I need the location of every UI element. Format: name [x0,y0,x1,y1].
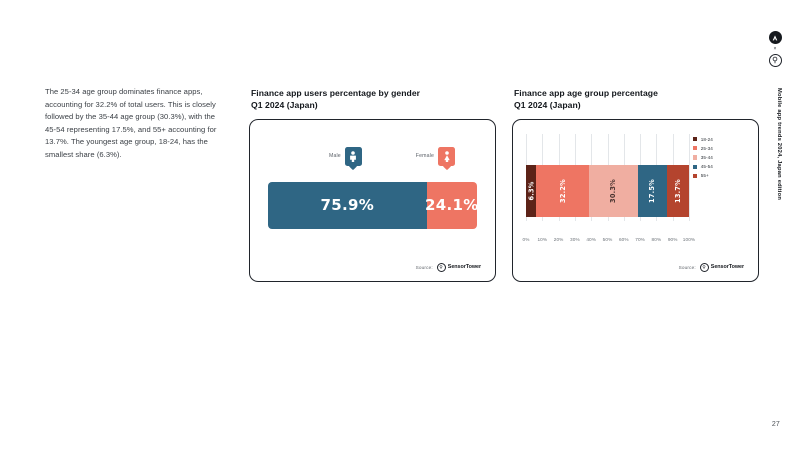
x-axis-tick: 80% [652,237,662,242]
appsflyer-logo-icon [769,31,782,44]
sensortower-mark-icon [437,263,446,272]
age-stacked-bar: 6.3% 32.2% 30.3% 17.5% 13.7% [526,165,689,217]
age-legend: 18-2425-3435-4445-5455+ [693,137,745,179]
age-title-line2: Q1 2024 (Japan) [514,99,759,111]
legend-label: 35-44 [701,155,713,160]
x-axis-tick: 30% [570,237,580,242]
sensortower-logo: SensorTower [700,263,744,272]
legend-item[interactable]: 25-34 [693,146,745,151]
legend-item[interactable]: 45-54 [693,164,745,169]
gender-title-line1: Finance app users percentage by gender [251,87,496,99]
age-plot-area: 6.3% 32.2% 30.3% 17.5% 13.7% 0%10%20%30%… [526,134,745,247]
x-axis-tick: 40% [586,237,596,242]
age-title-line1: Finance app age group percentage [514,87,759,99]
gender-title-line2: Q1 2024 (Japan) [251,99,496,111]
gender-icon-row: Male Female [268,147,477,173]
x-axis-tick: 100% [683,237,695,242]
x-axis-tick: 50% [603,237,613,242]
male-person-icon [345,147,362,166]
legend-item[interactable]: 55+ [693,173,745,178]
x-axis-tick: 70% [635,237,645,242]
brand-lockup: × [767,31,783,67]
sensortower-logo: SensorTower [437,263,481,272]
source-label: Source: [679,265,696,270]
legend-swatch-icon [693,137,697,141]
age-source: Source: SensorTower [679,263,744,272]
gender-chart-card: Male Female [249,119,496,282]
age-segment-25-34: 32.2% [536,165,588,217]
gender-source: Source: SensorTower [416,263,481,272]
age-segment-45-54: 17.5% [638,165,667,217]
logo-separator: × [767,47,783,52]
source-label: Source: [416,265,433,270]
x-axis-tick: 0% [523,237,530,242]
age-chart-card: 6.3% 32.2% 30.3% 17.5% 13.7% 0%10%20%30%… [512,119,759,282]
sensortower-logo-icon [769,54,782,67]
x-axis-tick: 90% [668,237,678,242]
sensortower-mark-icon [700,263,709,272]
legend-swatch-icon [693,174,697,178]
narrative-text: The 25-34 age group dominates finance ap… [45,86,221,162]
gender-stacked-bar: 75.9% 24.1% [268,182,477,229]
sensortower-name: SensorTower [711,264,744,270]
age-segment-35-44: 30.3% [589,165,638,217]
legend-item[interactable]: 18-24 [693,137,745,142]
male-label: Male [329,153,341,159]
legend-item[interactable]: 35-44 [693,155,745,160]
age-x-axis: 0%10%20%30%40%50%60%70%80%90%100% [526,237,689,249]
page-number: 27 [772,421,780,428]
x-axis-tick: 60% [619,237,629,242]
legend-swatch-icon [693,146,697,150]
legend-label: 18-24 [701,137,713,142]
legend-swatch-icon [693,165,697,169]
legend-label: 45-54 [701,164,713,169]
sensortower-name: SensorTower [448,264,481,270]
age-segment-55-plus: 13.7% [667,165,689,217]
male-icon-group: Male [329,147,362,166]
gender-chart-title: Finance app users percentage by gender Q… [251,87,496,112]
slide: The 25-34 age group dominates finance ap… [0,0,800,450]
legend-label: 25-34 [701,146,713,151]
age-segment-18-24: 6.3% [526,165,536,217]
gender-segment-female: 24.1% [427,182,477,229]
female-label: Female [416,153,434,159]
x-axis-tick: 20% [554,237,564,242]
age-chart-title: Finance app age group percentage Q1 2024… [514,87,759,112]
gender-segment-male: 75.9% [268,182,427,229]
legend-label: 55+ [701,173,709,178]
female-icon-group: Female [416,147,455,166]
legend-swatch-icon [693,155,697,159]
age-chart-block: Finance app age group percentage Q1 2024… [512,87,759,282]
gender-chart-block: Finance app users percentage by gender Q… [249,87,496,282]
female-person-icon [438,147,455,166]
x-axis-tick: 10% [537,237,547,242]
deck-title-vertical: Mobile app trends 2024, Japan edition [776,88,782,200]
gridline [689,134,690,221]
